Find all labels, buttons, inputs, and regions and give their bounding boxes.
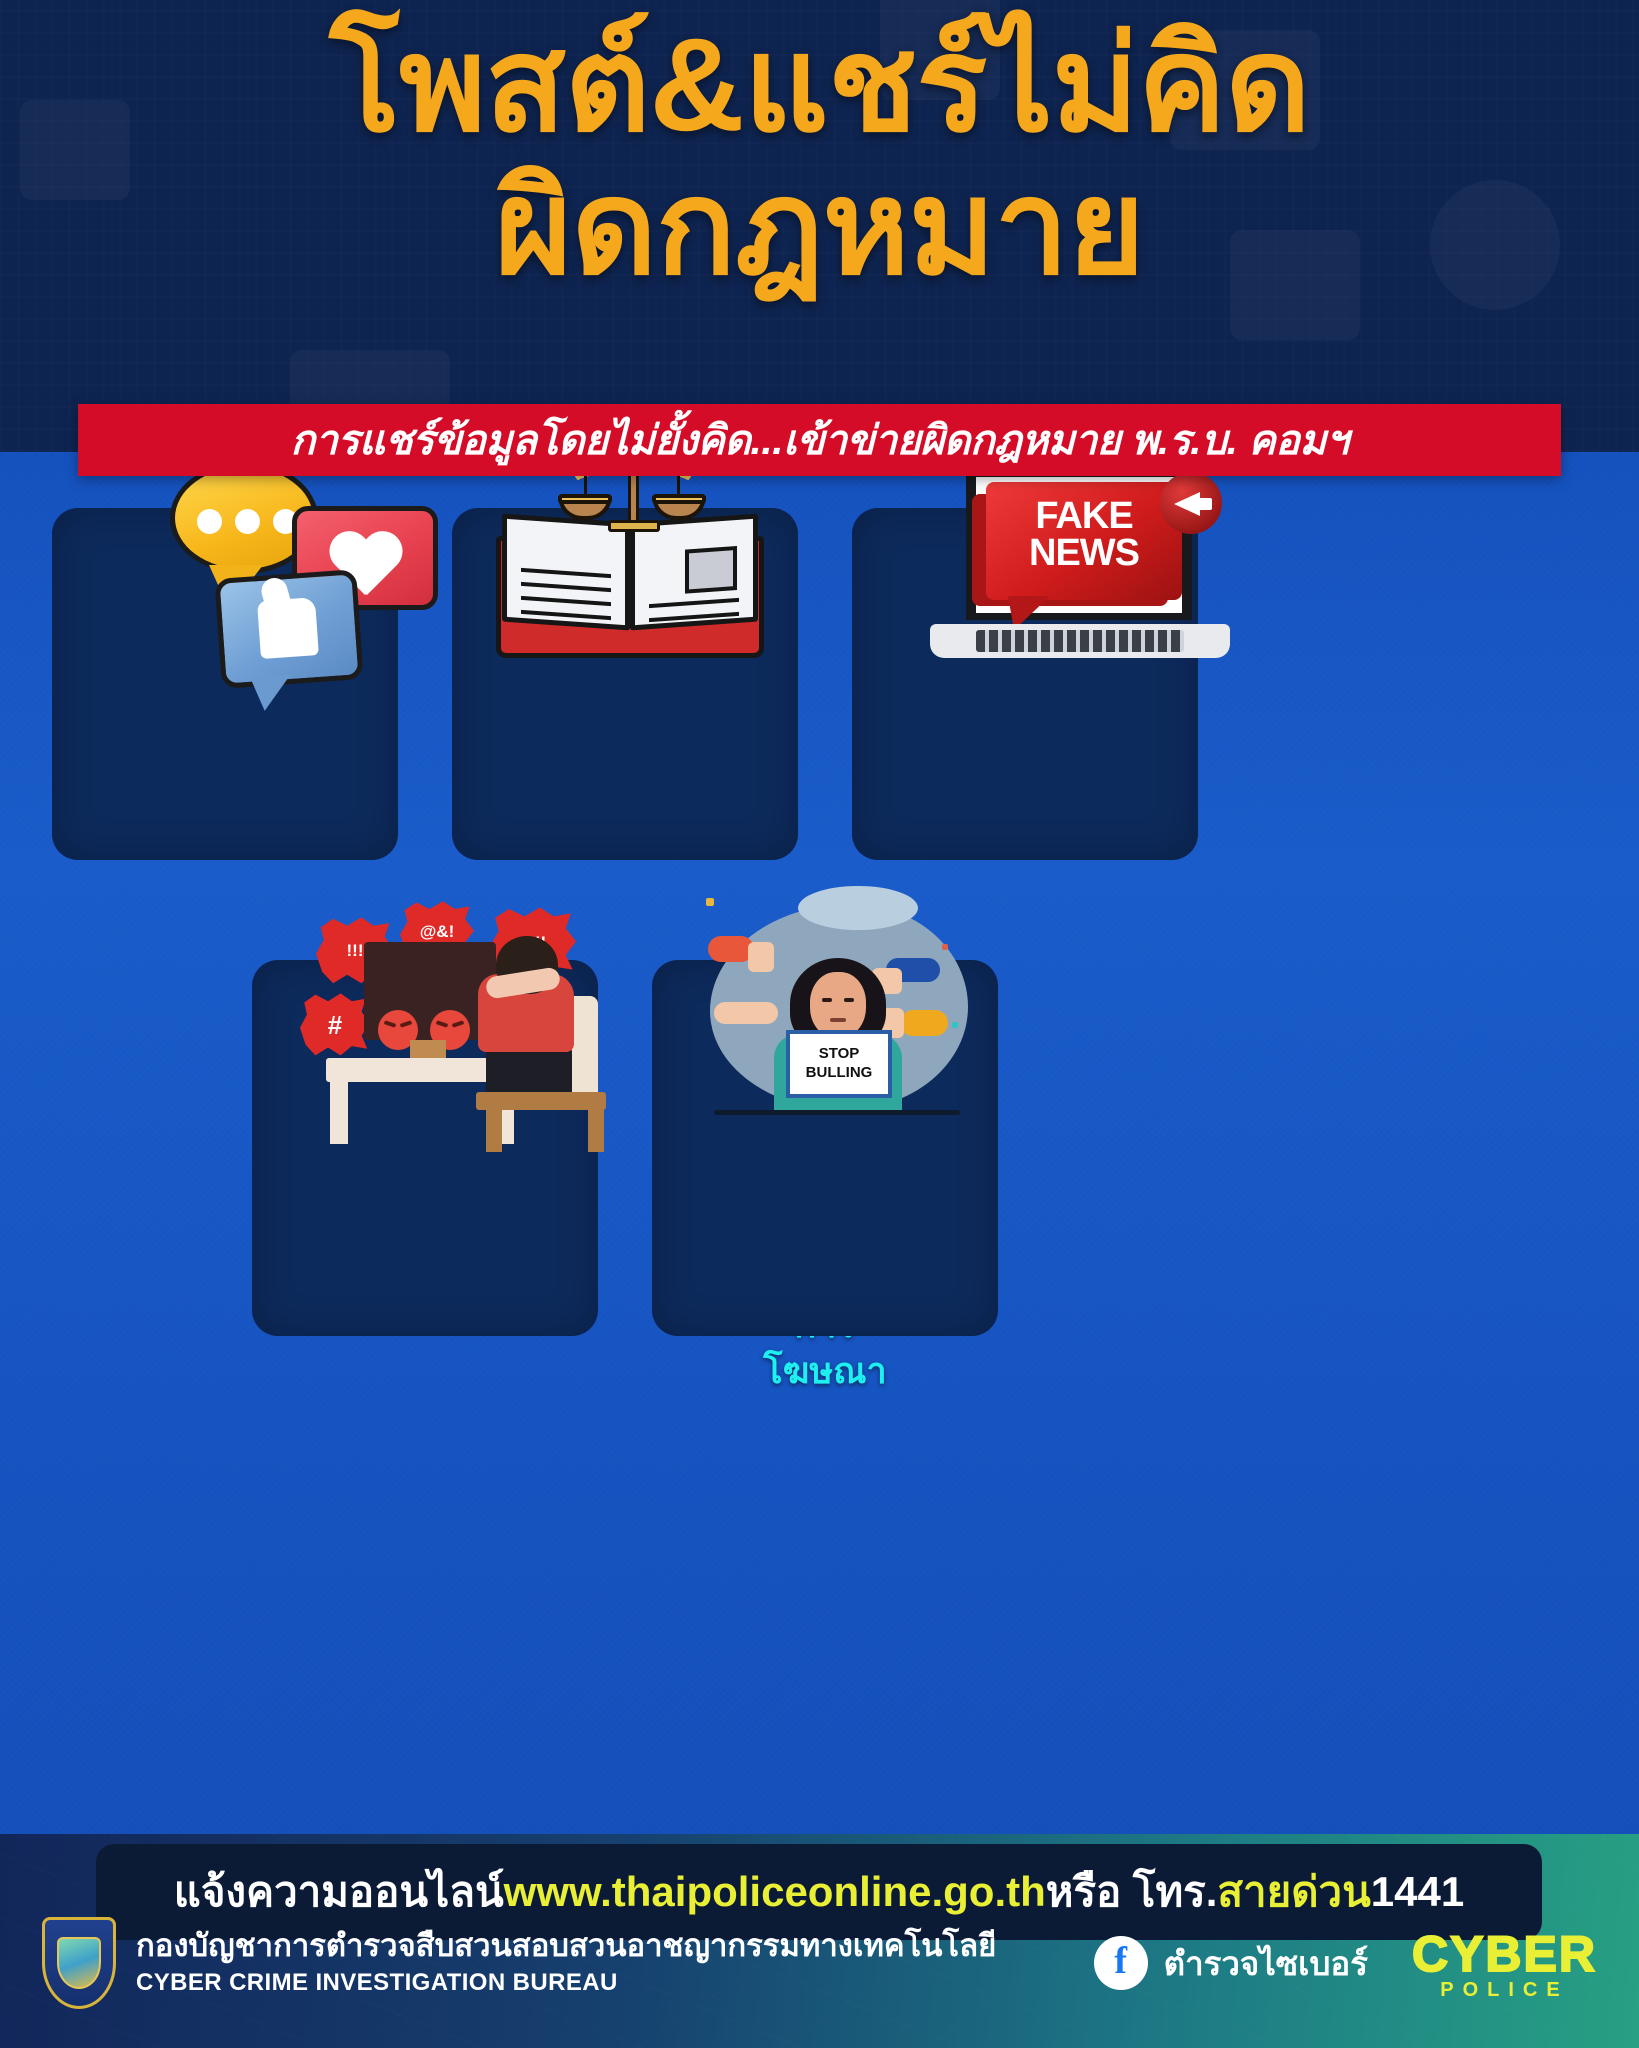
page-figure	[685, 546, 737, 594]
scale-base	[608, 520, 660, 532]
desk-leg	[330, 1082, 348, 1144]
law-book-scales-icon	[496, 456, 766, 676]
bullying-pointing-scene: STOP BULLING	[690, 884, 990, 1124]
cloud-shape	[798, 886, 918, 930]
social-reactions-icon	[140, 462, 450, 702]
laptop-icon: FAKE NEWS	[930, 468, 1230, 658]
pointing-hand-icon	[714, 1002, 778, 1024]
eye	[822, 998, 832, 1002]
cyber-police-logo: CYBER POLICE	[1412, 1925, 1597, 2002]
confetti	[706, 898, 714, 906]
stop-bullying-sign: STOP BULLING	[786, 1030, 892, 1098]
fake-news-bubble: FAKE NEWS	[986, 482, 1182, 600]
fake-news-label: FAKE NEWS	[986, 498, 1182, 572]
thumbs-up-shape	[257, 597, 319, 659]
scale-pan-left	[558, 496, 612, 520]
cyber-wordmark: CYBER	[1412, 1925, 1597, 1983]
org-name-thai: กองบัญชาการตำรวจสืบสวนสอบสวนอาชญากรรมทาง…	[136, 1929, 996, 1963]
org-name-english: CYBER CRIME INVESTIGATION BUREAU	[136, 1969, 996, 1997]
poster-title: โพสต์&แชร์ไม่คิด ผิดกฎหมาย	[0, 14, 1639, 299]
like-reaction-icon	[214, 569, 363, 689]
confetti	[942, 944, 948, 950]
pointing-hand-icon	[900, 1010, 948, 1036]
monitor-icon	[364, 942, 496, 1040]
subtitle-text: การแชร์ข้อมูลโดยไม่ยั้งคิด...เข้าข่ายผิด…	[291, 408, 1349, 473]
laptop-fake-news-icon: FAKE NEWS	[930, 448, 1250, 668]
sign-line-1: STOP	[819, 1045, 860, 1064]
typing-dots	[197, 509, 298, 534]
title-line-2: ผิดกฎหมาย	[0, 157, 1639, 300]
organization-names: กองบัญชาการตำรวจสืบสวนสอบสวนอาชญากรรมทาง…	[136, 1929, 996, 1997]
facebook-page-name: ตำรวจไซเบอร์	[1164, 1937, 1368, 1990]
thumbs-down-icon	[748, 942, 774, 972]
subtitle-banner: การแชร์ข้อมูลโดยไม่ยั้งคิด...เข้าข่ายผิด…	[78, 404, 1561, 476]
megaphone-handle	[1196, 498, 1212, 510]
bullying-scene: !!! @&! #!!! #	[300, 900, 630, 1150]
sign-line-2: BULLING	[806, 1064, 873, 1083]
bench	[476, 1092, 606, 1110]
police-crest-logo	[42, 1917, 116, 2009]
stop-bullying-icon: STOP BULLING	[690, 884, 990, 1124]
bench-leg	[486, 1110, 502, 1152]
bench-leg	[588, 1110, 604, 1152]
facebook-icon: f	[1094, 1936, 1148, 1990]
laptop-base	[930, 624, 1230, 658]
eye	[844, 998, 854, 1002]
megaphone-icon	[1160, 472, 1222, 534]
fake-word: FAKE	[986, 498, 1182, 535]
facebook-handle[interactable]: f ตำรวจไซเบอร์	[1094, 1936, 1368, 1990]
ground-line	[714, 1110, 960, 1115]
mouth	[830, 1018, 846, 1022]
monitor-stand	[410, 1040, 446, 1060]
laptop-keyboard	[976, 630, 1184, 652]
news-word: NEWS	[986, 535, 1182, 572]
burst-icon: #	[300, 992, 370, 1058]
confetti	[952, 1022, 958, 1028]
cyberbullying-victim-icon: !!! @&! #!!! #	[300, 900, 630, 1150]
card-line: โฆษณา	[668, 1348, 982, 1394]
footer-bar: กองบัญชาการตำรวจสืบสวนสอบสวนอาชญากรรมทาง…	[0, 1834, 1639, 2048]
person-face	[810, 972, 866, 1038]
crest-emblem	[57, 1937, 101, 1989]
scale-pan-right	[652, 496, 706, 520]
infographic-poster: โพสต์&แชร์ไม่คิด ผิดกฎหมาย การแชร์ข้อมูล…	[0, 0, 1639, 2048]
title-line-1: โพสต์&แชร์ไม่คิด	[0, 14, 1639, 157]
